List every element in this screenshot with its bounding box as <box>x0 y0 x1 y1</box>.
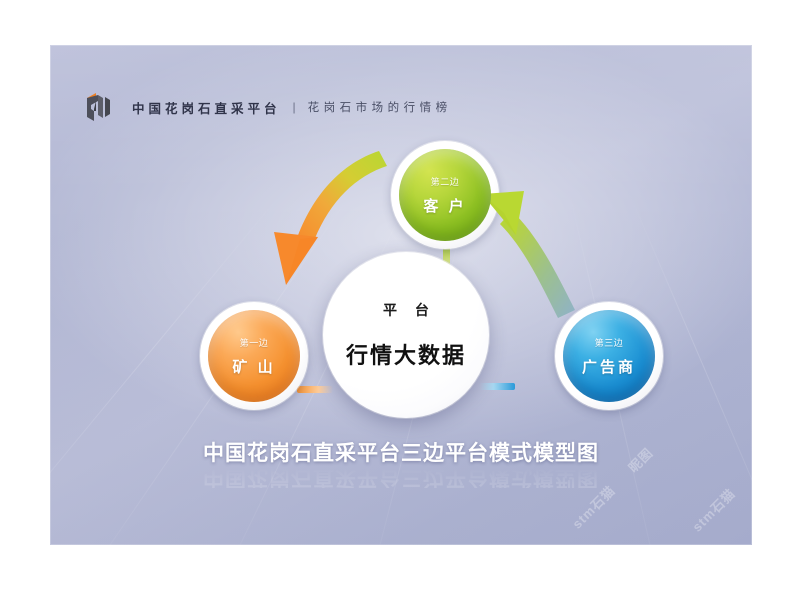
connector-advertiser <box>479 383 515 390</box>
brand-subtitle: 花岗石市场的行情榜 <box>308 99 452 115</box>
node-advertiser[interactable]: 第三边 广告商 <box>563 310 655 402</box>
brand-separator: | <box>293 100 296 114</box>
connector-mine <box>297 386 333 393</box>
node-advertiser-sublabel: 第三边 <box>595 336 624 349</box>
brand-header: 中国花岗石直采平台 | 花岗石市场的行情榜 <box>78 87 452 127</box>
platform-label: 行情大数据 <box>346 338 466 370</box>
cube-logo-icon <box>78 87 118 127</box>
node-platform-center[interactable]: 平 台 行情大数据 <box>323 252 489 418</box>
node-customer-sublabel: 第二边 <box>431 175 460 188</box>
brand-title: 中国花岗石直采平台 <box>132 98 281 117</box>
node-mine[interactable]: 第一边 矿 山 <box>208 310 300 402</box>
node-customer-label: 客 户 <box>423 195 466 216</box>
node-advertiser-label: 广告商 <box>582 356 636 377</box>
platform-sublabel: 平 台 <box>376 300 436 320</box>
slide-canvas: 中国花岗石直采平台 | 花岗石市场的行情榜 <box>50 45 752 545</box>
slide-title-block: 中国花岗石直采平台三边平台模式模型图 中国花岗石直采平台三边平台模式模型图 <box>50 443 752 488</box>
node-customer[interactable]: 第二边 客 户 <box>399 149 491 241</box>
slide-title: 中国花岗石直采平台三边平台模式模型图 <box>50 443 752 465</box>
node-mine-label: 矿 山 <box>232 356 275 377</box>
slide-title-reflection: 中国花岗石直采平台三边平台模式模型图 <box>50 466 752 488</box>
node-mine-sublabel: 第一边 <box>240 336 269 349</box>
